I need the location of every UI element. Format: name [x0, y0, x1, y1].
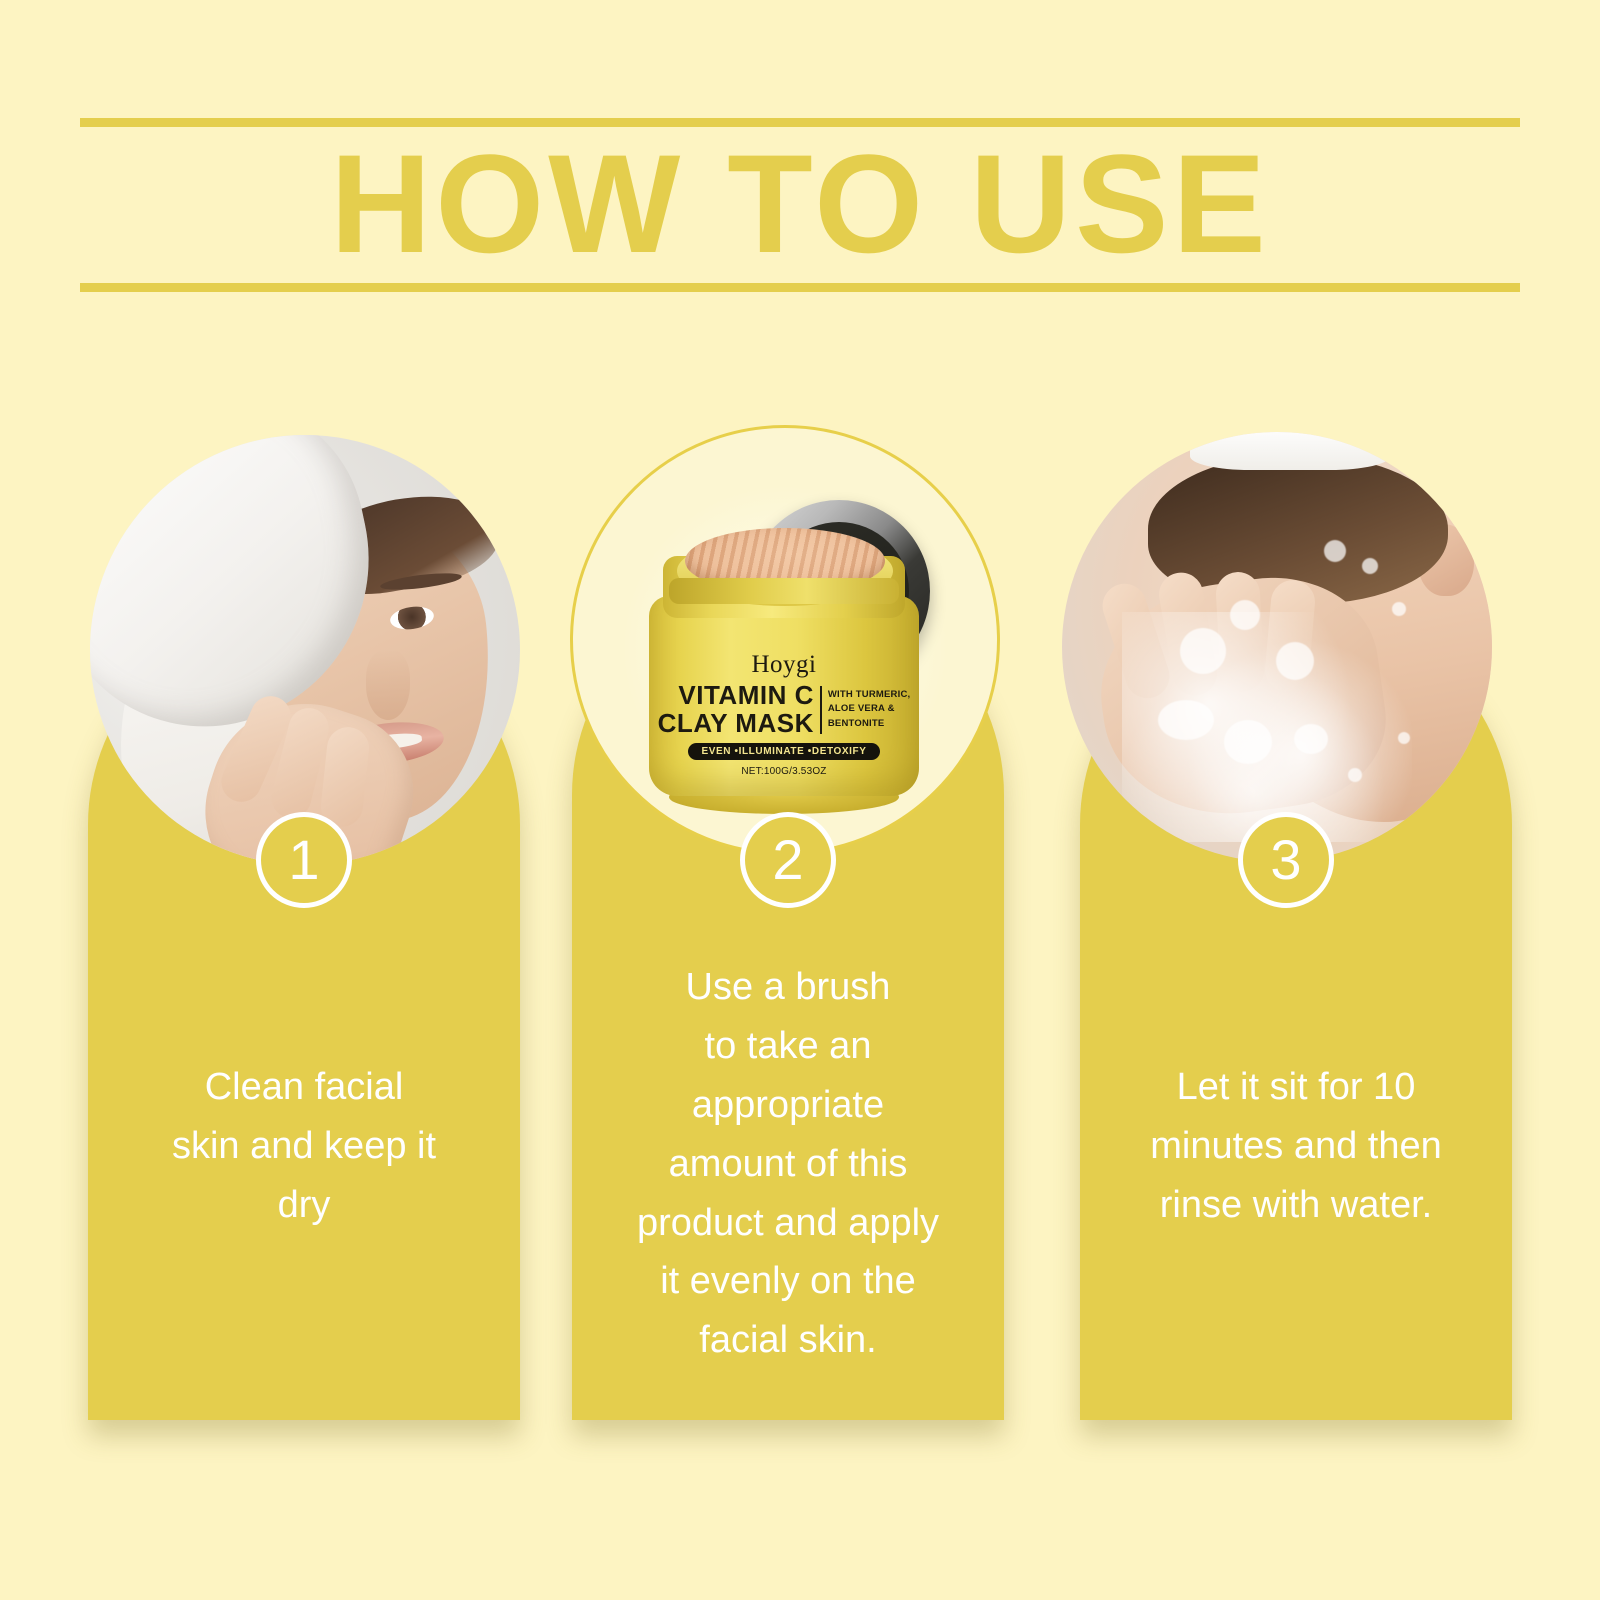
product-brand: Hoygi — [649, 652, 919, 677]
steps-container: 1 Clean facial skin and keep it dry Hoyg… — [0, 0, 1600, 1600]
product-ingredients: WITH TURMERIC, ALOE VERA & BENTONITE — [828, 688, 910, 731]
step-2-product-media: Hoygi VITAMIN C CLAY MASK WITH TURMERIC,… — [570, 425, 1000, 855]
product-tagline: EVEN •ILLUMINATE •DETOXIFY — [688, 743, 879, 760]
step-caption-2: Use a brush to take an appropriate amoun… — [580, 958, 996, 1370]
step-number-badge-3: 3 — [1238, 812, 1334, 908]
step-caption-3: Let it sit for 10 minutes and then rinse… — [1088, 1058, 1504, 1235]
step-caption-1: Clean facial skin and keep it dry — [96, 1058, 512, 1235]
woman-towel-turban-photo — [90, 435, 520, 865]
step-1-photo — [90, 435, 520, 865]
label-divider — [820, 686, 822, 734]
product-name: VITAMIN C CLAY MASK — [658, 682, 814, 737]
product-jar-image: Hoygi VITAMIN C CLAY MASK WITH TURMERIC,… — [573, 428, 997, 852]
step-number-badge-2: 2 — [740, 812, 836, 908]
rinsing-face-water-photo — [1062, 432, 1492, 862]
step-number-badge-1: 1 — [256, 812, 352, 908]
product-net-weight: NET:100G/3.53OZ — [649, 766, 919, 777]
product-label: Hoygi VITAMIN C CLAY MASK WITH TURMERIC,… — [649, 652, 919, 777]
step-3-photo — [1062, 432, 1492, 862]
